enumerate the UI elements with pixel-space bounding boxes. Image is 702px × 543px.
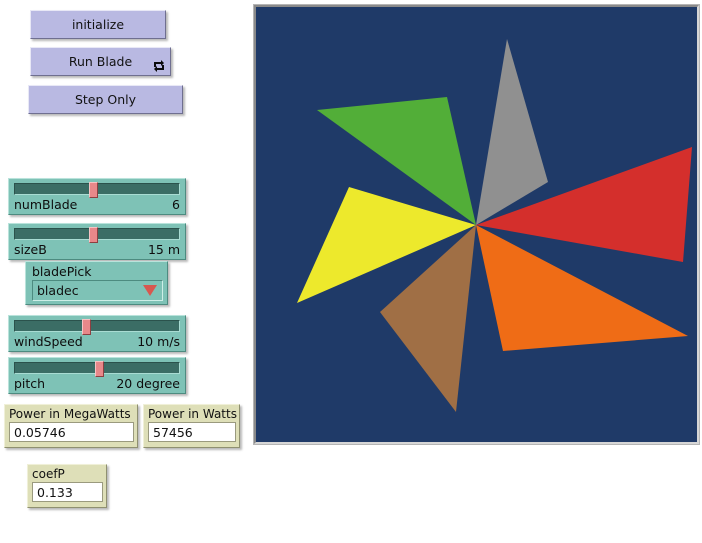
slider-pitch-thumb[interactable] — [95, 361, 104, 377]
slider-sizeb-track[interactable] — [14, 228, 180, 240]
bladepick-selected-value: bladec — [37, 283, 79, 298]
slider-pitch-track[interactable] — [14, 362, 180, 374]
slider-pitch[interactable]: pitch 20 degree — [8, 357, 186, 394]
output-coefp-title: coefP — [32, 466, 103, 482]
slider-windspeed-thumb[interactable] — [82, 319, 91, 335]
bladepick-select[interactable]: bladec — [32, 280, 163, 301]
output-coefp-value: 0.133 — [32, 482, 103, 502]
output-power-watts-title: Power in Watts — [148, 406, 236, 422]
bladepick-title: bladePick — [32, 263, 163, 280]
step-only-button[interactable]: Step Only — [28, 85, 183, 114]
slider-numblade-value: 6 — [172, 197, 180, 212]
output-power-megawatts-title: Power in MegaWatts — [9, 406, 134, 422]
output-power-megawatts-value: 0.05746 — [9, 422, 134, 442]
initialize-button[interactable]: initialize — [30, 10, 166, 39]
slider-numblade-track[interactable] — [14, 183, 180, 195]
blade-gray — [476, 39, 548, 225]
output-power-watts-value: 57456 — [148, 422, 236, 442]
slider-windspeed-track[interactable] — [14, 320, 180, 332]
slider-numblade-thumb[interactable] — [89, 182, 98, 198]
slider-windspeed-label: windSpeed — [14, 334, 83, 349]
slider-numblade-label: numBlade — [14, 197, 77, 212]
output-power-megawatts: Power in MegaWatts 0.05746 — [4, 404, 138, 448]
slider-sizeb-value: 15 m — [148, 242, 180, 257]
chevron-down-icon[interactable] — [143, 285, 157, 296]
slider-windspeed-value: 10 m/s — [137, 334, 180, 349]
slider-sizeb[interactable]: sizeB 15 m — [8, 223, 186, 260]
slider-pitch-label: pitch — [14, 376, 45, 391]
step-only-button-label: Step Only — [75, 92, 136, 107]
slider-sizeb-thumb[interactable] — [89, 227, 98, 243]
loop-refresh-icon — [152, 58, 166, 74]
slider-pitch-value: 20 degree — [116, 376, 180, 391]
run-blade-button-label: Run Blade — [69, 54, 132, 69]
output-power-watts: Power in Watts 57456 — [143, 404, 240, 448]
simulation-canvas[interactable] — [254, 5, 699, 444]
slider-sizeb-label: sizeB — [14, 242, 47, 257]
turbine-blades-graphic — [256, 7, 697, 442]
slider-numblade[interactable]: numBlade 6 — [8, 178, 186, 215]
slider-windspeed[interactable]: windSpeed 10 m/s — [8, 315, 186, 352]
initialize-button-label: initialize — [72, 17, 124, 32]
run-blade-button[interactable]: Run Blade — [30, 47, 171, 76]
output-coefp: coefP 0.133 — [27, 464, 107, 508]
bladepick-dropdown[interactable]: bladePick bladec — [25, 261, 168, 305]
